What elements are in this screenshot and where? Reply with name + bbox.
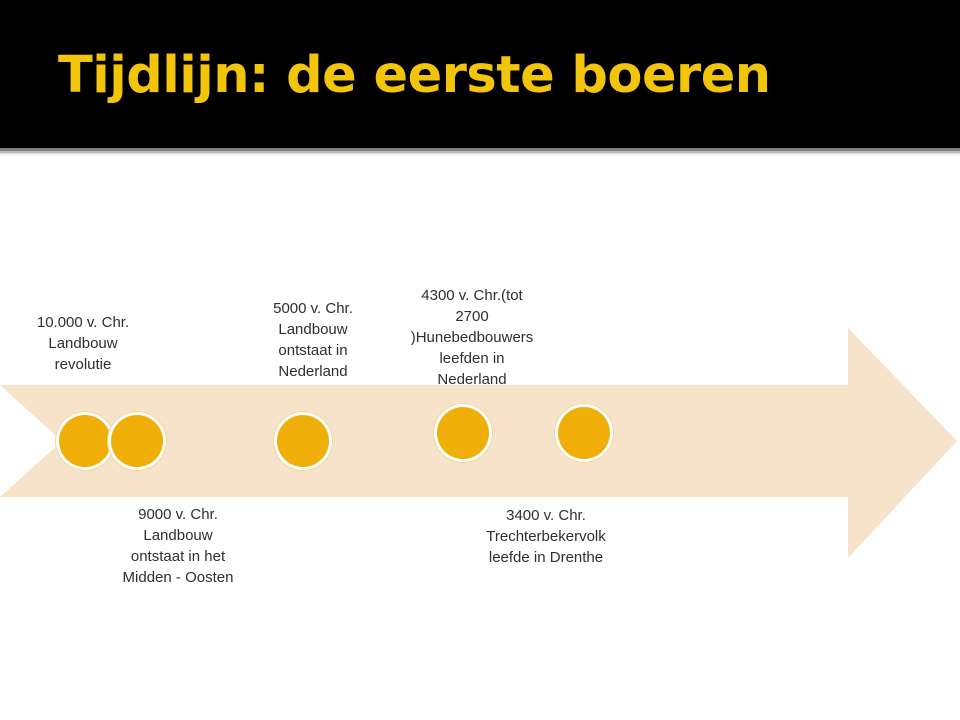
timeline-label-5000-vchr: 5000 v. Chr. Landbouw ontstaat in Nederl… (253, 298, 373, 382)
timeline-label-10000-vchr: 10.000 v. Chr. Landbouw revolutie (3, 312, 163, 375)
page-title: Tijdlijn: de eerste boeren (58, 46, 771, 106)
timeline-label-3400-vchr: 3400 v. Chr. Trechterbekervolk leefde in… (454, 505, 638, 568)
marker-4300-vchr[interactable] (437, 407, 489, 459)
marker-5000-vchr[interactable] (277, 415, 329, 467)
timeline-label-9000-vchr: 9000 v. Chr. Landbouw ontstaat in het Mi… (97, 504, 259, 588)
timeline-label-4300-vchr: 4300 v. Chr.(tot 2700 )Hunebedbouwers le… (390, 285, 554, 390)
slide-canvas: Tijdlijn: de eerste boeren 10.000 v. Chr… (0, 0, 960, 720)
marker-10000-vchr[interactable] (59, 415, 111, 467)
header-divider-light (0, 153, 960, 156)
marker-9000-vchr[interactable] (111, 415, 163, 467)
marker-3400-vchr[interactable] (558, 407, 610, 459)
